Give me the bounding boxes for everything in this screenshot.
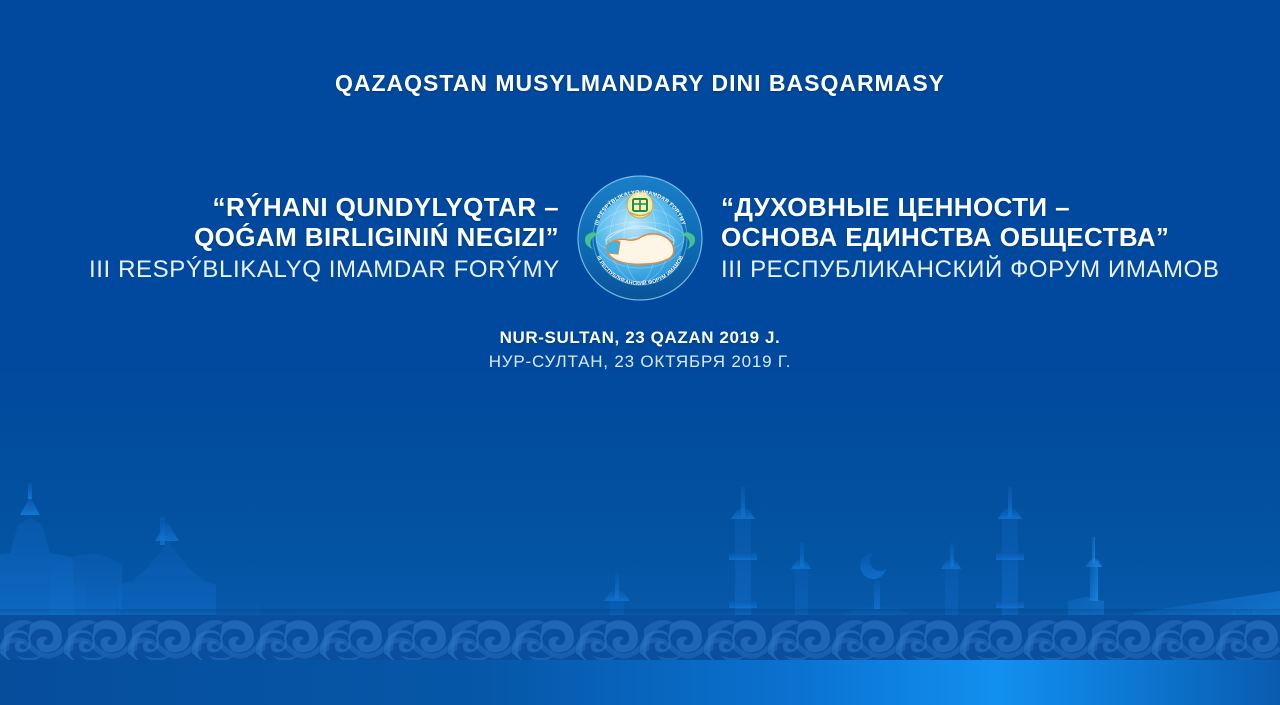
russian-quote-line-1: “ДУХОВНЫЕ ЦЕННОСТИ – <box>721 192 1191 222</box>
bottom-accent-bar <box>0 660 1280 705</box>
forum-emblem: III RESPÝBLIKALYQ IMAMDAR FORÝMY III РЕС… <box>577 175 703 301</box>
kazakh-quote-line-2: QOǴAM BIRLIGINIŃ NEGIZI” <box>89 222 559 252</box>
poster-canvas: QAZAQSTAN MUSYLMANDARY DINI BASQARMASY “… <box>0 0 1280 705</box>
russian-title-column: “ДУХОВНЫЕ ЦЕННОСТИ – ОСНОВА ЕДИНСТВА ОБЩ… <box>703 192 1191 285</box>
event-date-kazakh: NUR-SULTAN, 23 QAZAN 2019 J. <box>0 328 1280 348</box>
russian-subtitle: III РЕСПУБЛИКАНСКИЙ ФОРУМ ИМАМОВ <box>721 255 1191 285</box>
event-date-russian: НУР-СУЛТАН, 23 ОКТЯБРЯ 2019 Г. <box>0 352 1280 372</box>
russian-quote-line-2: ОСНОВА ЕДИНСТВА ОБЩЕСТВА” <box>721 222 1191 252</box>
event-date-block: NUR-SULTAN, 23 QAZAN 2019 J. НУР-СУЛТАН,… <box>0 328 1280 372</box>
kazakh-ornament-band <box>0 615 1280 660</box>
page-title: QAZAQSTAN MUSYLMANDARY DINI BASQARMASY <box>0 70 1280 97</box>
forum-title-block: “RÝHANI QUNDYLYQTAR – QOǴAM BIRLIGINIŃ N… <box>0 178 1280 298</box>
kazakh-title-column: “RÝHANI QUNDYLYQTAR – QOǴAM BIRLIGINIŃ N… <box>89 192 577 285</box>
kazakh-quote-line-1: “RÝHANI QUNDYLYQTAR – <box>89 192 559 222</box>
kazakh-subtitle: III RESPÝBLIKALYQ IMAMDAR FORÝMY <box>89 255 559 285</box>
